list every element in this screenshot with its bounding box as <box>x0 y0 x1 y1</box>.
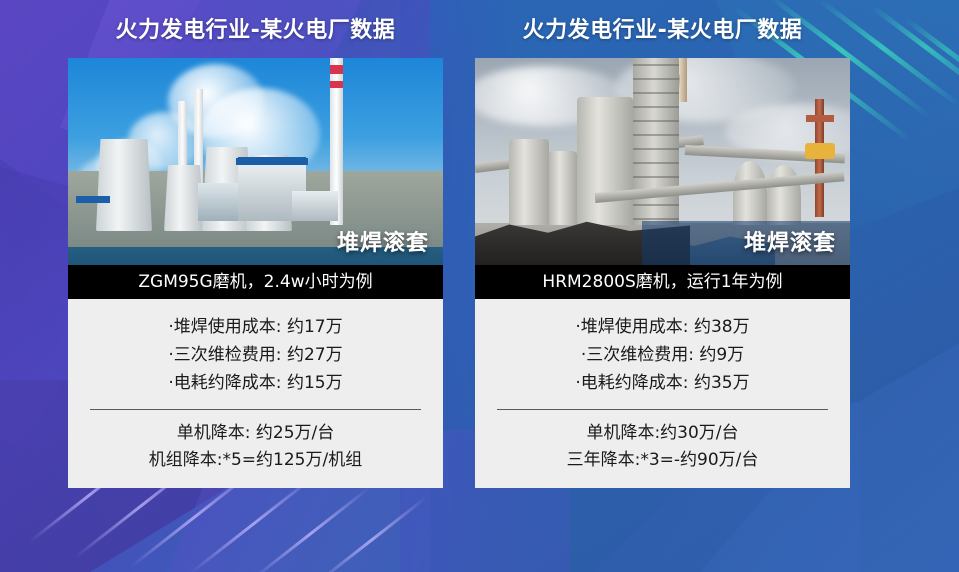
data-card-right: 火力发电行业-某火电厂数据 堆焊滚套 HRM2800S磨机，运行1年为例 <box>475 58 850 488</box>
silo-3 <box>549 151 577 225</box>
card-title-left: 火力发电行业-某火电厂数据 <box>68 12 443 44</box>
plant-building-3 <box>292 191 338 221</box>
total-line: 三年降本:*3=-约90万/台 <box>475 447 850 474</box>
card-photo-left: 堆焊滚套 <box>68 58 443 265</box>
preheater-tower <box>633 58 679 225</box>
total-line: 机组降本:*5=约125万/机组 <box>68 447 443 474</box>
card-subhead-right: HRM2800S磨机，运行1年为例 <box>475 265 850 299</box>
total-line: 单机降本:约30万/台 <box>475 420 850 447</box>
data-card-left: 火力发电行业-某火电厂数据 堆焊滚套 ZGM95G磨机，2.4 <box>68 58 443 488</box>
totals-left: 单机降本: 约25万/台 机组降本:*5=约125万/机组 <box>68 420 443 474</box>
list-item: ·三次维检费用: 约9万 <box>475 341 850 369</box>
red-mast-crane <box>815 99 824 217</box>
list-item: ·三次维检费用: 约27万 <box>68 341 443 369</box>
cooling-tower-1 <box>96 139 152 231</box>
silo-4 <box>733 161 767 225</box>
slide-canvas: 火力发电行业-某火电厂数据 堆焊滚套 ZGM95G磨机，2.4 <box>0 0 959 572</box>
list-item: ·堆焊使用成本: 约17万 <box>68 313 443 341</box>
card-body-left: ·堆焊使用成本: 约17万 ·三次维检费用: 约27万 ·电耗约降成本: 约15… <box>68 299 443 488</box>
list-item: ·电耗约降成本: 约35万 <box>475 369 850 397</box>
list-item: ·堆焊使用成本: 约38万 <box>475 313 850 341</box>
divider-left <box>90 409 421 410</box>
silo-5 <box>767 165 801 225</box>
divider-right <box>497 409 828 410</box>
card-title-right: 火力发电行业-某火电厂数据 <box>475 12 850 44</box>
totals-right: 单机降本:约30万/台 三年降本:*3=-约90万/台 <box>475 420 850 474</box>
list-item: ·电耗约降成本: 约15万 <box>68 369 443 397</box>
blue-roof-2 <box>76 196 110 203</box>
photo-caption-left: 堆焊滚套 <box>337 225 429 257</box>
silo-2 <box>509 139 549 225</box>
photo-caption-right: 堆焊滚套 <box>744 225 836 257</box>
card-body-right: ·堆焊使用成本: 约38万 ·三次维检费用: 约9万 ·电耗约降成本: 约35万… <box>475 299 850 488</box>
silo-1 <box>577 97 633 225</box>
total-line: 单机降本: 约25万/台 <box>68 420 443 447</box>
card-photo-right: 堆焊滚套 <box>475 58 850 265</box>
bullet-list-right: ·堆焊使用成本: 约38万 ·三次维检费用: 约9万 ·电耗约降成本: 约35万 <box>475 313 850 397</box>
blue-roof-1 <box>236 158 308 165</box>
bullet-list-left: ·堆焊使用成本: 约17万 ·三次维检费用: 约27万 ·电耗约降成本: 约15… <box>68 313 443 397</box>
card-subhead-left: ZGM95G磨机，2.4w小时为例 <box>68 265 443 299</box>
